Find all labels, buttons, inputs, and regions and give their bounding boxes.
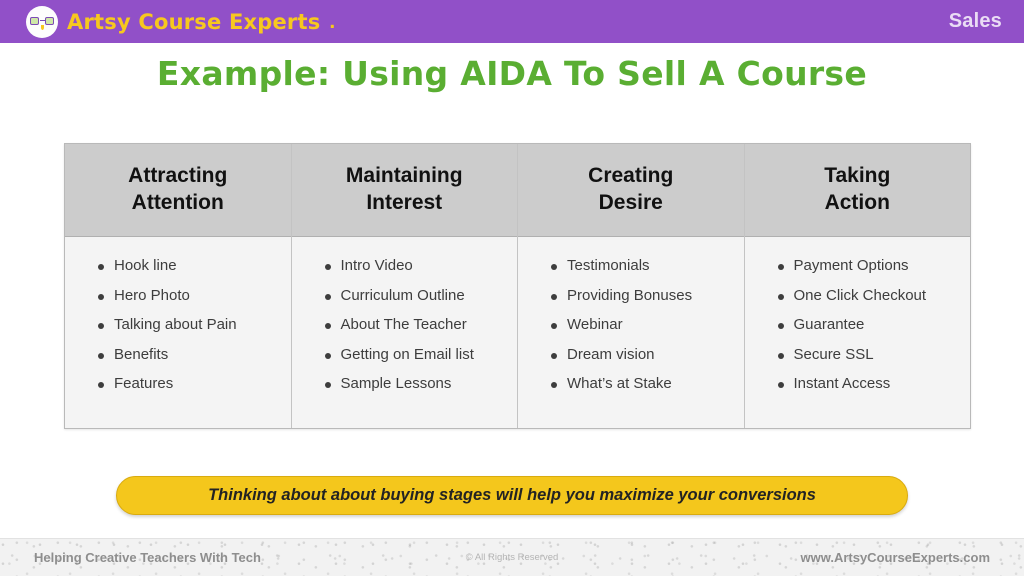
- bullet-list: Testimonials Providing Bonuses Webinar D…: [518, 258, 744, 391]
- list-item: Hook line: [65, 258, 291, 273]
- page-title: Example: Using AIDA To Sell A Course: [0, 54, 1024, 93]
- list-item: Features: [65, 376, 291, 391]
- footer: Helping Creative Teachers With Tech © Al…: [0, 538, 1024, 576]
- list-item-label: What’s at Stake: [567, 376, 672, 391]
- bullet-dot-icon: [325, 353, 331, 359]
- bullet-dot-icon: [778, 264, 784, 270]
- bullet-dot-icon: [778, 353, 784, 359]
- column-header-line2: Attention: [132, 191, 224, 214]
- column-body: Intro Video Curriculum Outline About The…: [292, 237, 518, 428]
- brand-dot: .: [329, 10, 335, 34]
- column-header: Maintaining Interest: [292, 144, 518, 237]
- column-header-line2: Desire: [599, 191, 663, 214]
- bullet-dot-icon: [551, 294, 557, 300]
- bullet-dot-icon: [325, 382, 331, 388]
- bullet-list: Payment Options One Click Checkout Guara…: [745, 258, 971, 391]
- list-item: Instant Access: [745, 376, 971, 391]
- list-item-label: Intro Video: [341, 258, 413, 273]
- section-label: Sales: [949, 10, 1002, 33]
- list-item: Providing Bonuses: [518, 288, 744, 303]
- brand-logo[interactable]: Artsy Course Experts .: [26, 6, 335, 38]
- list-item-label: Webinar: [567, 317, 623, 332]
- bullet-list: Hook line Hero Photo Talking about Pain …: [65, 258, 291, 391]
- list-item-label: Sample Lessons: [341, 376, 452, 391]
- aida-table: Attracting Attention Hook line Hero Phot…: [64, 143, 971, 429]
- list-item: Curriculum Outline: [292, 288, 518, 303]
- column-header-line1: Maintaining: [346, 164, 463, 187]
- bullet-dot-icon: [98, 382, 104, 388]
- list-item: Secure SSL: [745, 347, 971, 362]
- footer-copyright: © All Rights Reserved: [466, 552, 559, 563]
- list-item-label: Hero Photo: [114, 288, 190, 303]
- column-header-line1: Creating: [588, 164, 673, 187]
- list-item: Benefits: [65, 347, 291, 362]
- bullet-dot-icon: [98, 353, 104, 359]
- list-item-label: Talking about Pain: [114, 317, 237, 332]
- bullet-dot-icon: [551, 353, 557, 359]
- bullet-dot-icon: [551, 264, 557, 270]
- callout-banner: Thinking about about buying stages will …: [116, 476, 908, 515]
- list-item: What’s at Stake: [518, 376, 744, 391]
- bullet-dot-icon: [551, 323, 557, 329]
- list-item: Payment Options: [745, 258, 971, 273]
- list-item: Hero Photo: [65, 288, 291, 303]
- list-item-label: Instant Access: [794, 376, 891, 391]
- bullet-list: Intro Video Curriculum Outline About The…: [292, 258, 518, 391]
- column-header-line2: Action: [825, 191, 890, 214]
- list-item: Talking about Pain: [65, 317, 291, 332]
- list-item-label: Benefits: [114, 347, 168, 362]
- column-body: Testimonials Providing Bonuses Webinar D…: [518, 237, 744, 428]
- list-item-label: Hook line: [114, 258, 177, 273]
- list-item-label: Providing Bonuses: [567, 288, 692, 303]
- bullet-dot-icon: [778, 382, 784, 388]
- list-item: Intro Video: [292, 258, 518, 273]
- bullet-dot-icon: [98, 294, 104, 300]
- list-item-label: One Click Checkout: [794, 288, 927, 303]
- bullet-dot-icon: [325, 264, 331, 270]
- list-item-label: Curriculum Outline: [341, 288, 465, 303]
- column-header-line1: Attracting: [128, 164, 227, 187]
- nerd-glasses-face-icon: [26, 6, 58, 38]
- column-header-line1: Taking: [824, 164, 890, 187]
- bullet-dot-icon: [325, 294, 331, 300]
- column-body: Hook line Hero Photo Talking about Pain …: [65, 237, 291, 428]
- list-item-label: About The Teacher: [341, 317, 467, 332]
- slide-root: Artsy Course Experts . Sales Example: Us…: [0, 0, 1024, 576]
- bullet-dot-icon: [98, 323, 104, 329]
- column-body: Payment Options One Click Checkout Guara…: [745, 237, 971, 428]
- table-column-taking-action: Taking Action Payment Options One Click …: [745, 144, 971, 428]
- list-item-label: Testimonials: [567, 258, 650, 273]
- bullet-dot-icon: [98, 264, 104, 270]
- list-item-label: Features: [114, 376, 173, 391]
- bullet-dot-icon: [551, 382, 557, 388]
- footer-website: www.ArtsyCourseExperts.com: [558, 550, 990, 565]
- list-item-label: Guarantee: [794, 317, 865, 332]
- list-item-label: Dream vision: [567, 347, 655, 362]
- table-column-maintaining-interest: Maintaining Interest Intro Video Curricu…: [292, 144, 519, 428]
- table-column-creating-desire: Creating Desire Testimonials Providing B…: [518, 144, 745, 428]
- list-item-label: Secure SSL: [794, 347, 874, 362]
- list-item: One Click Checkout: [745, 288, 971, 303]
- callout-text: Thinking about about buying stages will …: [208, 486, 816, 505]
- column-header: Creating Desire: [518, 144, 744, 237]
- table-column-attracting-attention: Attracting Attention Hook line Hero Phot…: [65, 144, 292, 428]
- bullet-dot-icon: [325, 323, 331, 329]
- list-item: About The Teacher: [292, 317, 518, 332]
- list-item-label: Payment Options: [794, 258, 909, 273]
- list-item: Guarantee: [745, 317, 971, 332]
- column-header: Taking Action: [745, 144, 971, 237]
- list-item: Testimonials: [518, 258, 744, 273]
- list-item-label: Getting on Email list: [341, 347, 474, 362]
- list-item: Sample Lessons: [292, 376, 518, 391]
- bullet-dot-icon: [778, 294, 784, 300]
- list-item: Getting on Email list: [292, 347, 518, 362]
- top-bar: Artsy Course Experts . Sales: [0, 0, 1024, 43]
- list-item: Webinar: [518, 317, 744, 332]
- column-header: Attracting Attention: [65, 144, 291, 237]
- list-item: Dream vision: [518, 347, 744, 362]
- footer-tagline: Helping Creative Teachers With Tech: [34, 550, 466, 565]
- bullet-dot-icon: [778, 323, 784, 329]
- brand-name: Artsy Course Experts: [67, 10, 320, 34]
- column-header-line2: Interest: [366, 191, 442, 214]
